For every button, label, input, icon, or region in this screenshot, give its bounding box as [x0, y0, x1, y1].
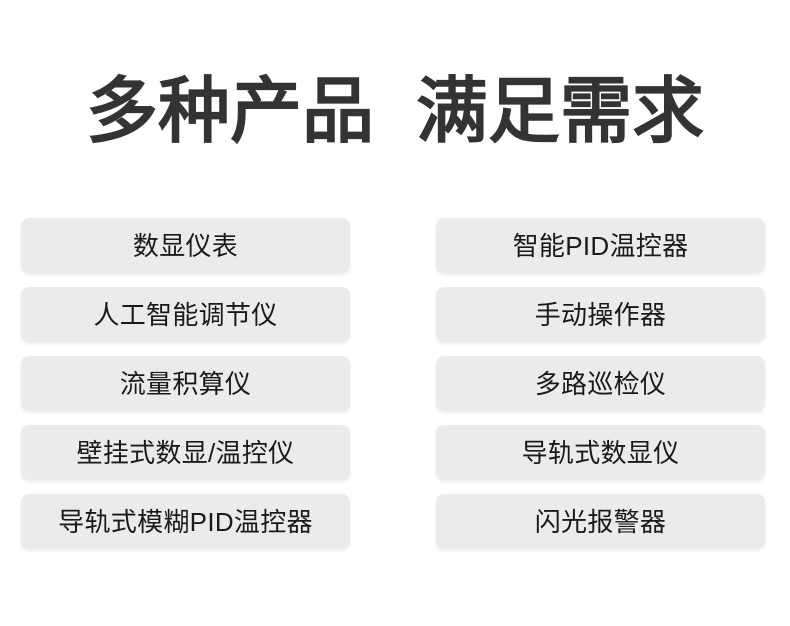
product-button-label: 流量积算仪 — [120, 371, 252, 397]
product-button-shuxian-yibiao[interactable]: 数显仪表 — [21, 218, 350, 273]
product-button-zhineng-pid-wenkongqi[interactable]: 智能PID温控器 — [436, 218, 765, 273]
product-button-label: 导轨式模糊PID温控器 — [58, 509, 313, 535]
product-button-shanguang-baojingqi[interactable]: 闪光报警器 — [436, 494, 765, 549]
product-button-label: 智能PID温控器 — [513, 233, 689, 259]
product-button-rengong-zhineng-tiaojieyi[interactable]: 人工智能调节仪 — [21, 287, 350, 342]
product-column-right: 智能PID温控器 手动操作器 多路巡检仪 导轨式数显仪 闪光报警器 — [436, 218, 765, 549]
product-button-label: 人工智能调节仪 — [93, 302, 277, 328]
product-button-shoudong-caozuoqi[interactable]: 手动操作器 — [436, 287, 765, 342]
product-category-banner: 多种产品满足需求 数显仪表 人工智能调节仪 流量积算仪 壁挂式数显/温控仪 导轨… — [0, 0, 790, 626]
page-title-text: 多种产品满足需求 — [86, 76, 704, 148]
product-button-daoguishi-mohu-pid-wenkongqi[interactable]: 导轨式模糊PID温控器 — [21, 494, 350, 549]
product-button-liuliang-jisuanyi[interactable]: 流量积算仪 — [21, 356, 350, 411]
product-button-label: 手动操作器 — [535, 302, 667, 328]
product-button-label: 壁挂式数显/温控仪 — [77, 440, 295, 466]
product-button-label: 闪光报警器 — [535, 509, 667, 535]
page-title-segment-2: 满足需求 — [416, 72, 704, 152]
product-category-grid: 数显仪表 人工智能调节仪 流量积算仪 壁挂式数显/温控仪 导轨式模糊PID温控器… — [21, 218, 765, 549]
product-button-label: 数显仪表 — [133, 233, 238, 259]
page-title: 多种产品满足需求 — [0, 58, 790, 166]
product-button-biguashi-shuxian-wenkongyi[interactable]: 壁挂式数显/温控仪 — [21, 425, 350, 480]
product-button-label: 导轨式数显仪 — [522, 440, 680, 466]
product-button-duolu-xunjianyi[interactable]: 多路巡检仪 — [436, 356, 765, 411]
page-title-segment-1: 多种产品 — [86, 72, 374, 152]
product-column-left: 数显仪表 人工智能调节仪 流量积算仪 壁挂式数显/温控仪 导轨式模糊PID温控器 — [21, 218, 350, 549]
product-button-daoguishi-shuxianyi[interactable]: 导轨式数显仪 — [436, 425, 765, 480]
product-button-label: 多路巡检仪 — [535, 371, 667, 397]
